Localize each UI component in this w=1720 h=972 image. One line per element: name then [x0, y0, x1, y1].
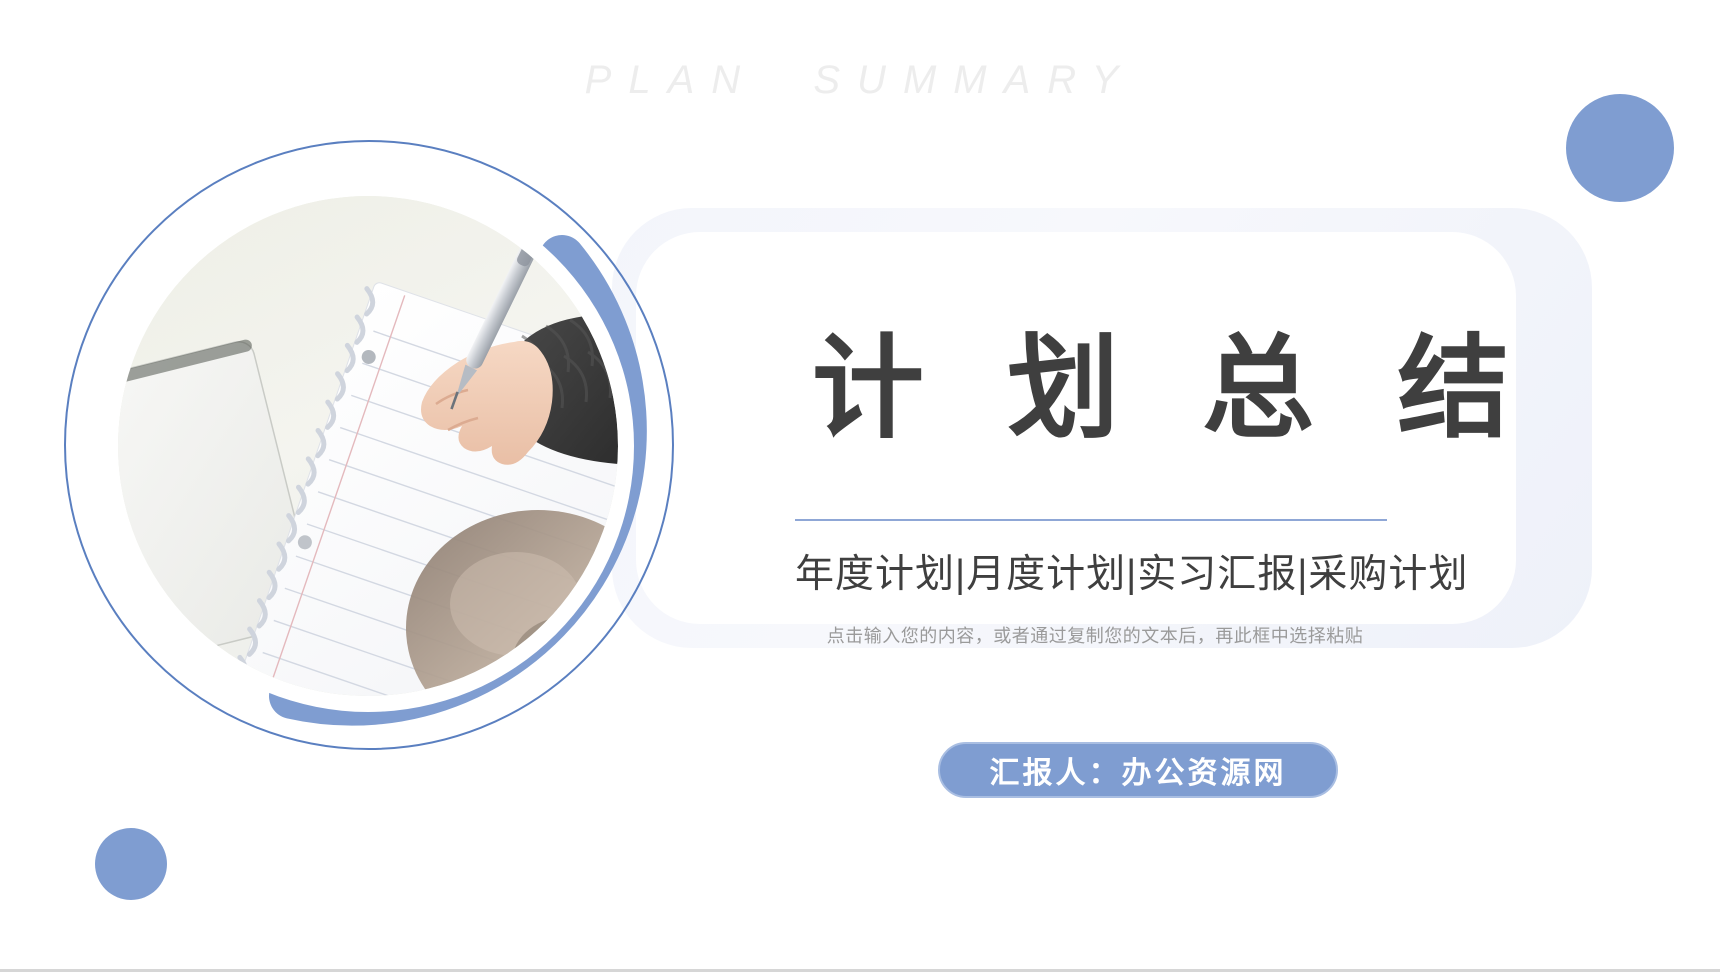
presenter-label: 汇报人：办公资源网: [990, 748, 1287, 792]
decorative-circle-bottom-left: [95, 828, 167, 900]
eyebrow-text: PLAN SUMMARY: [0, 58, 1720, 103]
presenter-badge[interactable]: 汇报人：办公资源网: [938, 742, 1338, 798]
hero-photo: [118, 196, 618, 696]
placeholder-hint-text[interactable]: 点击输入您的内容，或者通过复制您的文本后，再此框中选择粘贴: [795, 622, 1395, 648]
decorative-circle-top-right: [1566, 94, 1674, 202]
page-title: 计 划 总 结: [812, 326, 1535, 451]
presentation-slide: PLAN SUMMARY 计 划 总 结 年度计划|月度计划|实习汇报|采购计划…: [0, 0, 1720, 972]
title-divider: [795, 519, 1387, 521]
photo-illustration: [118, 196, 618, 696]
subtitle-text: 年度计划|月度计划|实习汇报|采购计划: [795, 543, 1395, 599]
